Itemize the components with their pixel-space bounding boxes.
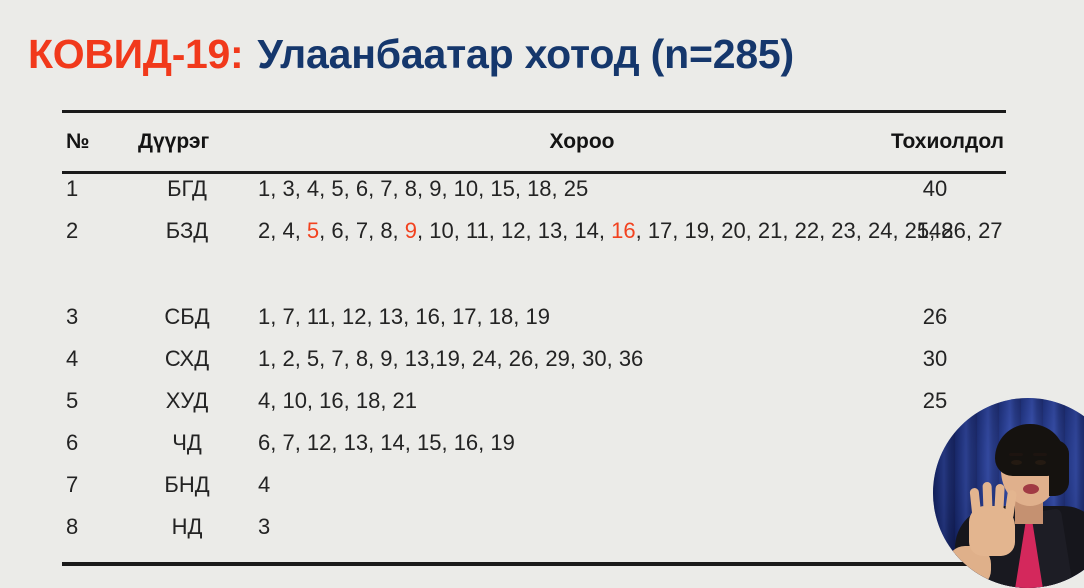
cell-no: 3 bbox=[66, 302, 102, 332]
page-title-prefix: КОВИД-19: bbox=[28, 31, 243, 78]
interpreter-finger bbox=[982, 482, 992, 512]
cell-district: БНД bbox=[138, 470, 236, 500]
column-header-khoroo: Хороо bbox=[482, 130, 682, 154]
cell-no: 7 bbox=[66, 470, 102, 500]
cell-no: 8 bbox=[66, 512, 102, 542]
cell-khoroo: 2, 4, 5, 6, 7, 8, 9, 10, 11, 12, 13, 14,… bbox=[258, 216, 898, 246]
cell-khoroo: 1, 7, 11, 12, 13, 16, 17, 18, 19 bbox=[258, 302, 898, 332]
cell-khoroo: 3 bbox=[258, 512, 898, 542]
table-row: 3 СБД 1, 7, 11, 12, 13, 16, 17, 18, 19 2… bbox=[62, 302, 1006, 344]
interpreter-eye-right bbox=[1035, 460, 1046, 465]
cell-district: ХУД bbox=[138, 386, 236, 416]
table-row: 6 ЧД 6, 7, 12, 13, 14, 15, 16, 19 bbox=[62, 428, 1006, 470]
cell-district: СХД bbox=[138, 344, 236, 374]
table-row: 7 БНД 4 bbox=[62, 470, 1006, 512]
khoroo-highlighted: 16 bbox=[611, 218, 635, 243]
interpreter-eye-left bbox=[1011, 460, 1022, 465]
khoroo-plain: 4 bbox=[258, 472, 270, 497]
cell-khoroo: 1, 3, 4, 5, 6, 7, 8, 9, 10, 15, 18, 25 bbox=[258, 174, 898, 204]
covid-cases-table: № Дүүрэг Хороо Тохиолдол 1 БГД 1, 3, 4, … bbox=[62, 110, 1006, 566]
khoroo-highlighted: 9 bbox=[405, 218, 417, 243]
khoroo-plain: 1, 7, 11, 12, 13, 16, 17, 18, 19 bbox=[258, 304, 550, 329]
column-header-no: № bbox=[66, 130, 89, 154]
table-bottom-rule bbox=[62, 562, 1006, 566]
khoroo-plain: 4, 10, 16, 18, 21 bbox=[258, 388, 417, 413]
cell-no: 2 bbox=[66, 216, 102, 246]
cell-khoroo: 4 bbox=[258, 470, 898, 500]
khoroo-plain: , 6, 7, 8, bbox=[319, 218, 405, 243]
cell-no: 5 bbox=[66, 386, 102, 416]
interpreter-hair-side bbox=[1049, 440, 1069, 496]
cell-district: СБД bbox=[138, 302, 236, 332]
cell-cases: 26 bbox=[868, 302, 1002, 332]
column-header-cases: Тохиолдол bbox=[891, 130, 1004, 154]
page-title: КОВИД-19: Улаанбаатар хотод (n=285) bbox=[28, 26, 1058, 82]
interpreter-eyebrow-left bbox=[1009, 453, 1023, 456]
interpreter-finger bbox=[994, 484, 1005, 514]
khoroo-plain: 1, 3, 4, 5, 6, 7, 8, 9, 10, 15, 18, 25 bbox=[258, 176, 588, 201]
table-header-row: № Дүүрэг Хороо Тохиолдол bbox=[62, 113, 1006, 171]
cell-cases: 40 bbox=[868, 174, 1002, 204]
cell-district: ЧД bbox=[138, 428, 236, 458]
table-row: 8 НД 3 bbox=[62, 512, 1006, 554]
cell-khoroo: 1, 2, 5, 7, 8, 9, 13,19, 24, 26, 29, 30,… bbox=[258, 344, 898, 374]
cell-district: БГД bbox=[138, 174, 236, 204]
cell-no: 6 bbox=[66, 428, 102, 458]
interpreter-mouth bbox=[1023, 484, 1039, 494]
cell-no: 1 bbox=[66, 174, 102, 204]
khoroo-plain: 1, 2, 5, 7, 8, 9, 13,19, 24, 26, 29, 30,… bbox=[258, 346, 643, 371]
khoroo-highlighted: 5 bbox=[307, 218, 319, 243]
cell-no: 4 bbox=[66, 344, 102, 374]
table-row: 4 СХД 1, 2, 5, 7, 8, 9, 13,19, 24, 26, 2… bbox=[62, 344, 1006, 386]
cell-khoroo: 4, 10, 16, 18, 21 bbox=[258, 386, 898, 416]
cell-khoroo: 6, 7, 12, 13, 14, 15, 16, 19 bbox=[258, 428, 898, 458]
cell-cases: 30 bbox=[868, 344, 1002, 374]
khoroo-plain: 2, 4, bbox=[258, 218, 307, 243]
page-title-main: Улаанбаатар хотод (n=285) bbox=[257, 31, 794, 78]
khoroo-plain: 6, 7, 12, 13, 14, 15, 16, 19 bbox=[258, 430, 515, 455]
table-body: 1 БГД 1, 3, 4, 5, 6, 7, 8, 9, 10, 15, 18… bbox=[62, 174, 1006, 562]
table-row: 2 БЗД 2, 4, 5, 6, 7, 8, 9, 10, 11, 12, 1… bbox=[62, 216, 1006, 280]
cell-district: БЗД bbox=[138, 216, 236, 246]
sign-language-interpreter-video bbox=[933, 398, 1084, 588]
khoroo-plain: , 10, 11, 12, 13, 14, bbox=[417, 218, 611, 243]
table-row: 5 ХУД 4, 10, 16, 18, 21 25 bbox=[62, 386, 1006, 428]
column-header-district: Дүүрэг bbox=[138, 130, 209, 154]
khoroo-plain: 3 bbox=[258, 514, 270, 539]
cell-cases: 148 bbox=[868, 216, 1002, 246]
table-row: 1 БГД 1, 3, 4, 5, 6, 7, 8, 9, 10, 15, 18… bbox=[62, 174, 1006, 216]
cell-district: НД bbox=[138, 512, 236, 542]
interpreter-eyebrow-right bbox=[1033, 453, 1047, 456]
